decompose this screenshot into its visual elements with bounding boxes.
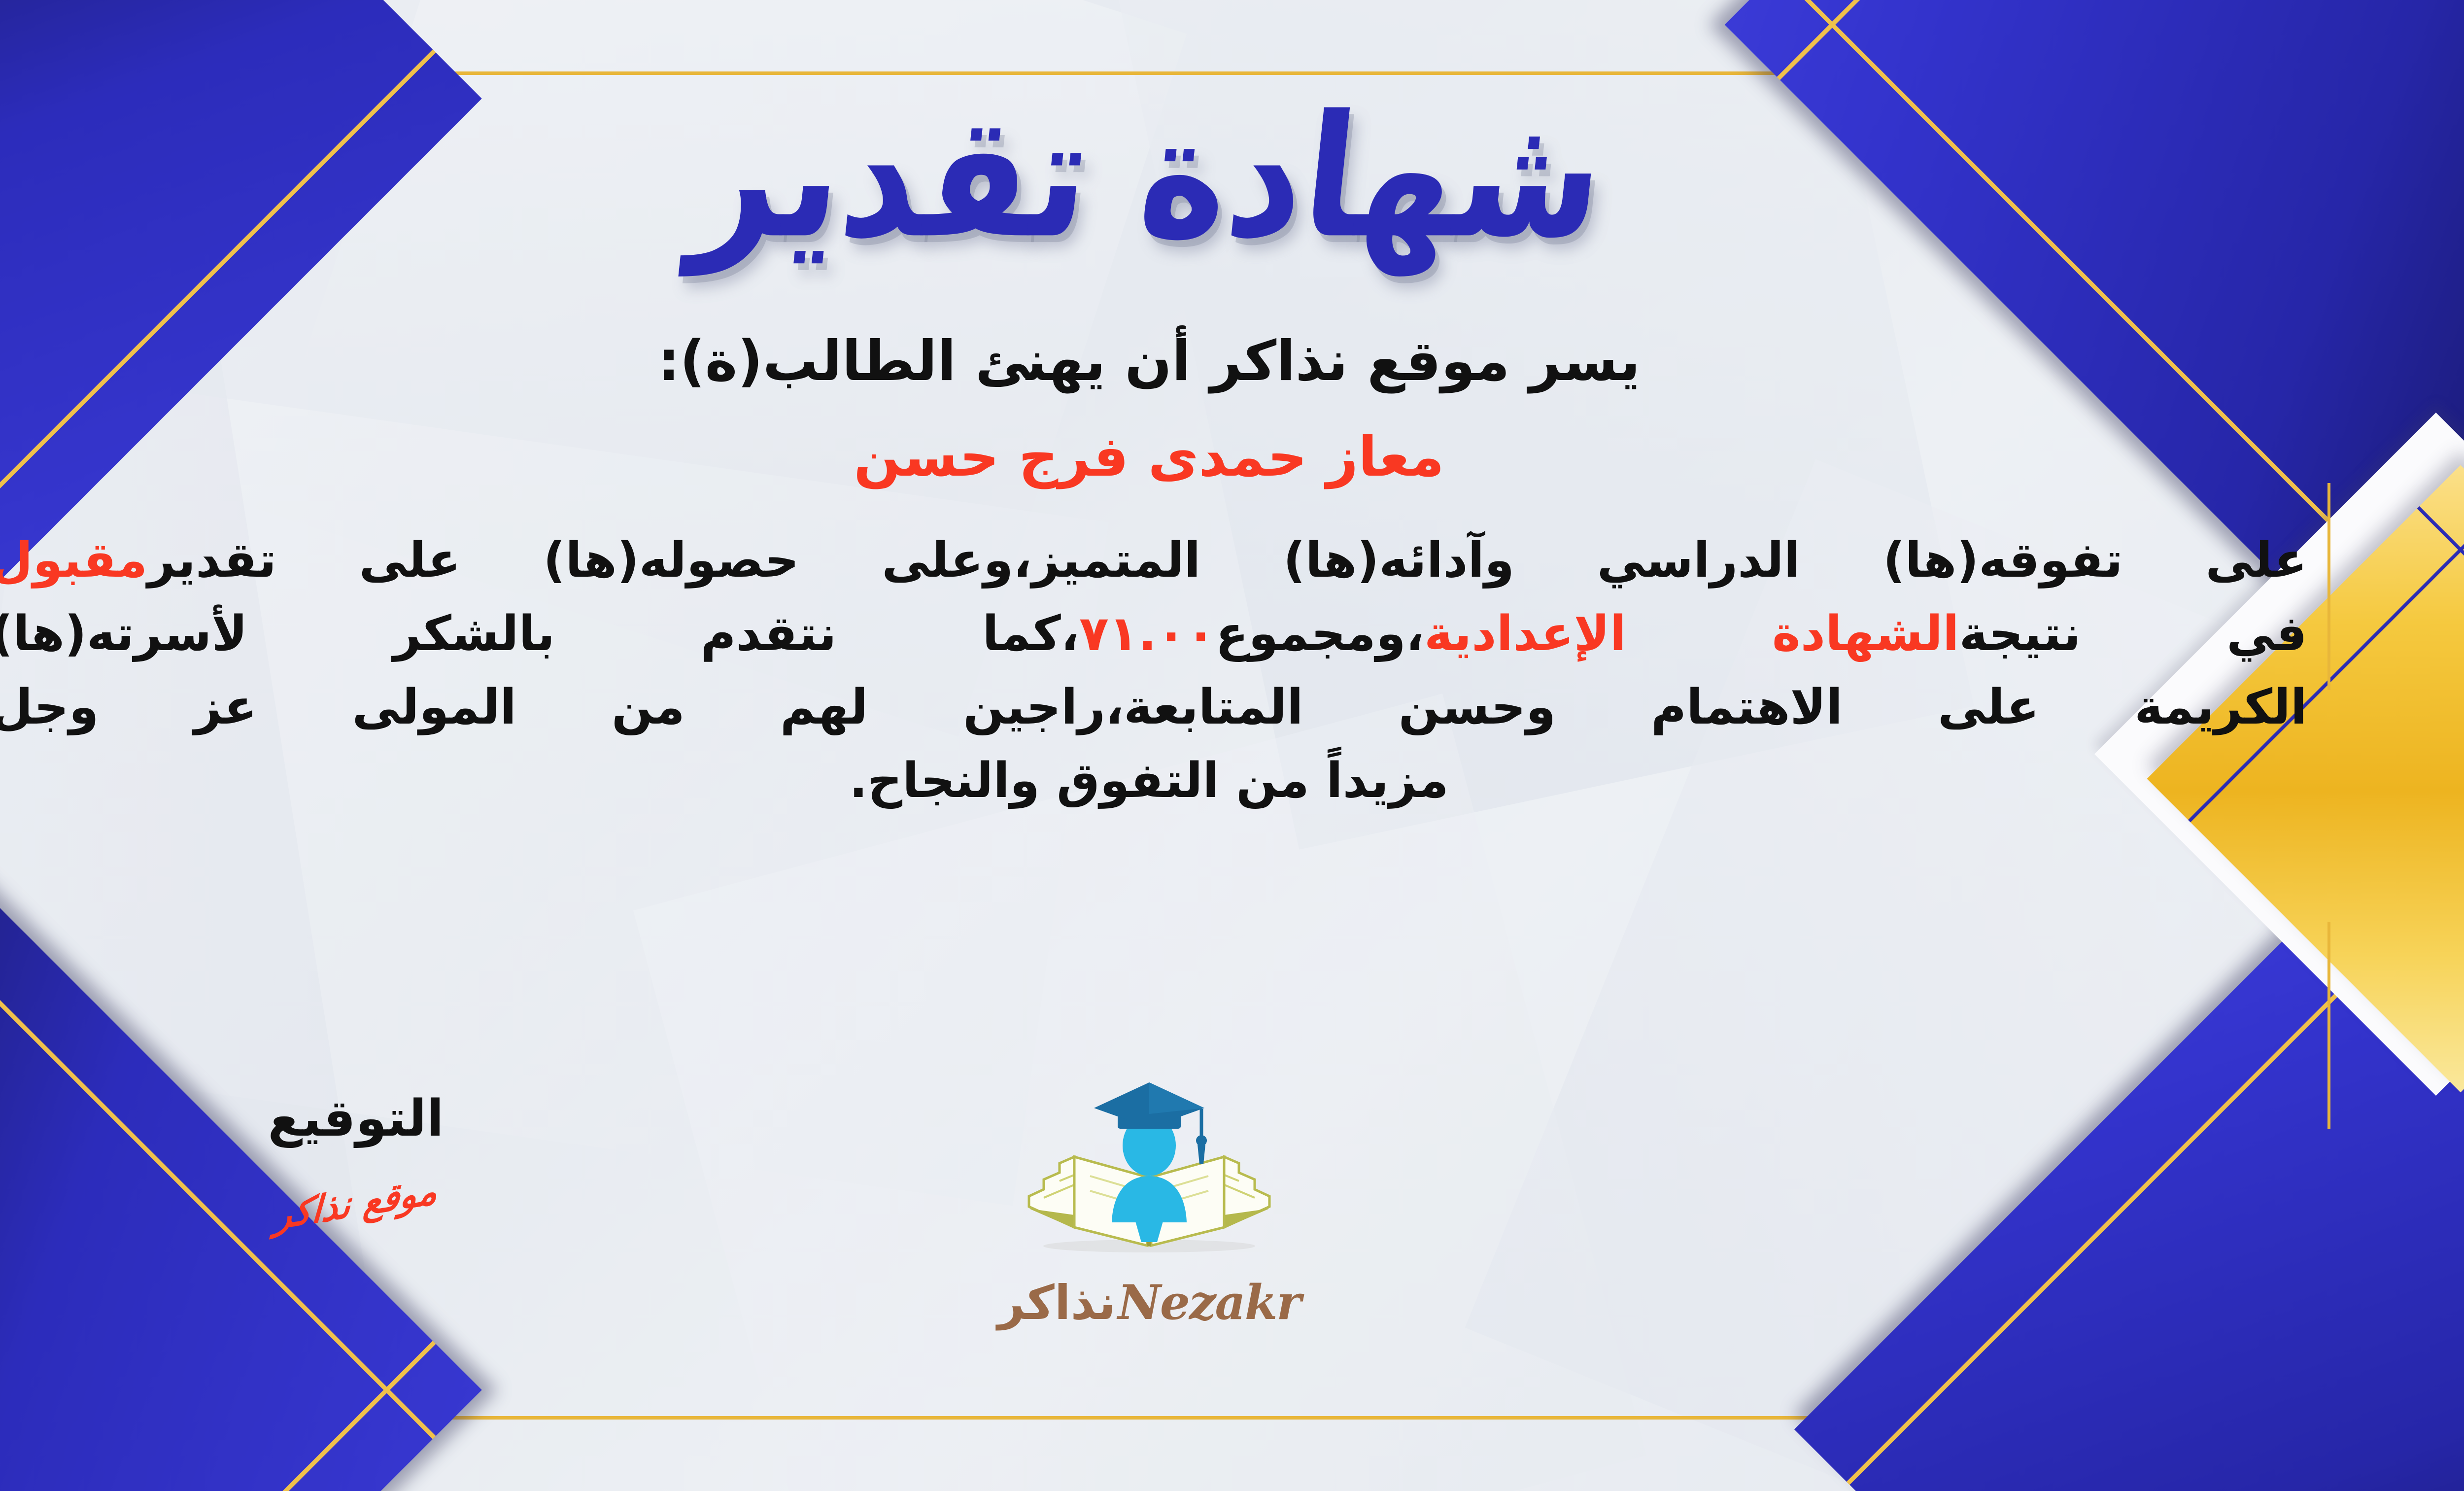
body-line-2: في نتيجةالشهادة الإعدادية،ومجموع٧١.٠٠،كم… — [0, 597, 2307, 671]
body-line-1: على تفوقه(ها) الدراسي وآدائه(ها) المتميز… — [0, 524, 2307, 597]
in-result-label: في نتيجة — [1959, 606, 2307, 662]
body-line-4: مزيداً من التفوق والنجاح. — [0, 744, 2307, 818]
certificate-footer: التوقيع موقع نذاكر — [0, 1079, 2391, 1385]
signature-script: موقع نذاكر — [274, 1169, 439, 1238]
certificate-content: شهادة تقدير يسر موقع نذاكر أن يهنئ الطال… — [0, 71, 2391, 1420]
title-container: شهادة تقدير — [0, 86, 2391, 269]
signature-block: التوقيع موقع نذاكر — [169, 1089, 543, 1225]
body-paragraph: على تفوقه(ها) الدراسي وآدائه(ها) المتميز… — [0, 524, 2307, 818]
total-label: ،ومجموع — [1215, 606, 1424, 662]
student-name: معاز حمدى فرج حسن — [0, 422, 2391, 491]
exam-name: الشهادة الإعدادية — [1424, 606, 1959, 662]
logo-name-ar: نذاكر — [997, 1275, 1116, 1330]
thanks-text: ،كما نتقدم بالشكر لأسرته(ها) — [0, 606, 1079, 662]
body-line1-text: على تفوقه(ها) الدراسي وآدائه(ها) المتميز… — [147, 532, 2307, 589]
logo-wordmark: Nezakrنذاكر — [962, 1275, 1336, 1330]
greeting-line: يسر موقع نذاكر أن يهنئ الطالب(ة): — [0, 327, 2391, 396]
grade-value: مقبول — [0, 532, 147, 589]
graduate-book-icon — [1011, 1079, 1287, 1272]
logo-name-en: Nezakr — [1118, 1275, 1300, 1330]
total-score: ٧١.٠٠ — [1079, 606, 1216, 662]
page-title: شهادة تقدير — [686, 93, 1611, 262]
signature-label: التوقيع — [169, 1089, 543, 1148]
certificate-canvas: شهادة تقدير يسر موقع نذاكر أن يهنئ الطال… — [0, 0, 2464, 1491]
site-logo: Nezakrنذاكر — [962, 1079, 1336, 1330]
body-line-3: الكريمة على الاهتمام وحسن المتابعة،راجين… — [0, 671, 2307, 744]
